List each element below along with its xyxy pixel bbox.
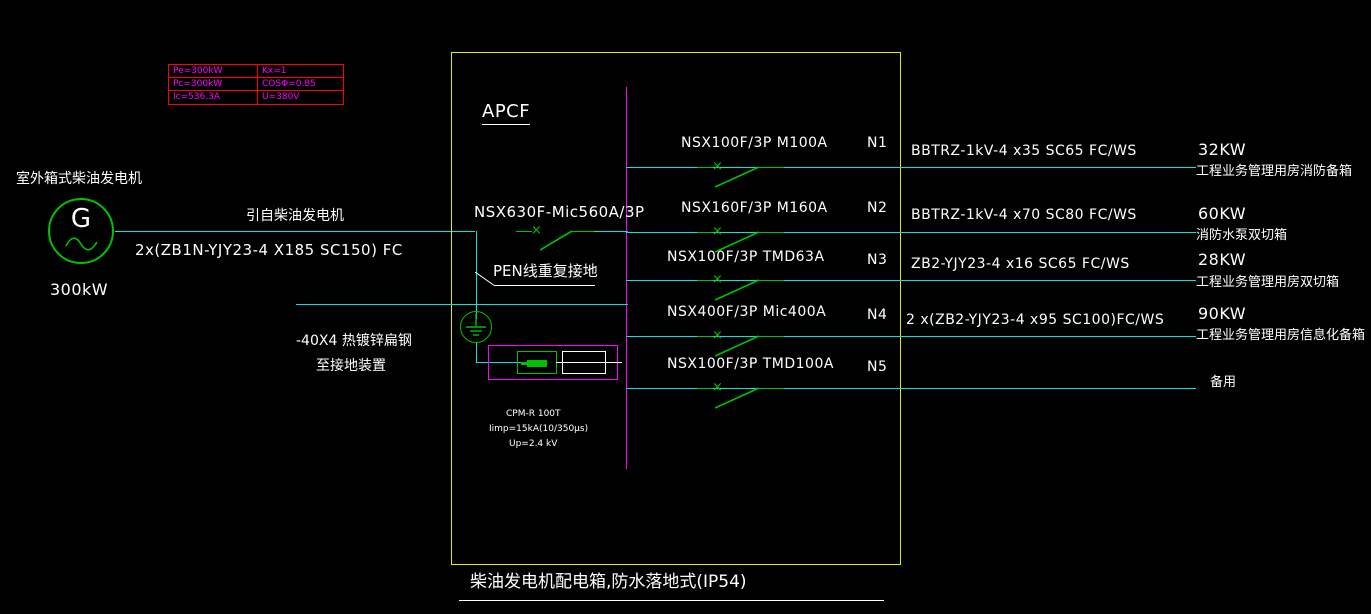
breaker-label-n3: NSX100F/3P TMD63A [667,250,825,264]
grounding-conductor-wire [296,304,628,305]
load-name-n4: 工程业务管理用房信息化备箱 [1196,329,1365,342]
load-power-n3: 28KW [1198,252,1246,268]
load-power-n1: 32KW [1198,142,1246,158]
cable-spec-n4: 2 x(ZB2-YJY23-4 x95 SC100)FC/WS [906,313,1164,327]
cell-u: U=380V [258,91,343,104]
breaker-contact-right-n2 [758,232,784,233]
generator-symbol: G [48,198,114,264]
breaker-label-n4: NSX400F/3P Mic400A [667,305,826,319]
earth-to-spd-wire [476,343,477,363]
drawing-caption: 柴油发电机配电箱,防水落地式(IP54) [470,574,747,591]
cell-ic: Ic=536.3A [169,91,258,104]
generator-rating: 300kW [50,282,108,298]
cable-spec-n2: BBTRZ-1kV-4 x70 SC80 FC/WS [911,208,1137,222]
load-power-n2: 60KW [1198,206,1246,222]
load-name-n1: 工程业务管理用房消防备箱 [1196,165,1352,178]
breaker-contact-left-n3 [697,280,713,281]
pen-note-underline [495,285,595,286]
breaker-arm-n3 [715,279,761,303]
cell-kx: Kx=1 [258,65,343,77]
spd-imp-label: Iimp=15kA(10/350μs) [489,425,588,434]
main-breaker-arm [540,230,574,252]
breaker-contact-right-n4 [758,336,784,337]
spd-internal-wire [556,362,622,363]
circuit-ref-n2: N2 [867,201,887,215]
breaker-contact-left-n1 [697,167,713,168]
breaker-arm-n1 [715,166,761,190]
table-row: Pe=300kW Kx=1 [169,65,343,78]
breaker-arm-n5 [715,387,761,411]
main-breaker-contact-left [516,231,532,232]
load-calculation-table: Pe=300kW Kx=1 Pc=300kW COSΦ=0.85 Ic=536.… [168,64,344,105]
circuit-ref-n1: N1 [867,136,887,150]
table-row: Pc=300kW COSΦ=0.85 [169,78,343,91]
breaker-contact-left-n4 [697,336,713,337]
cable-spec-n3: ZB2-YJY23-4 x16 SC65 FC/WS [911,257,1130,271]
breaker-contact-right-n5 [758,388,784,389]
ground-spec-line1: -40X4 热镀锌扁钢 [296,334,412,348]
table-row: Ic=536.3A U=380V [169,91,343,104]
main-breaker-label: NSX630F-Mic560A/3P [474,205,645,220]
pen-note-leader [475,272,497,288]
source-title: 室外箱式柴油发电机 [16,172,142,186]
breaker-contact-left-n5 [697,388,713,389]
cell-pe: Pe=300kW [169,65,258,77]
breaker-contact-left-n2 [697,232,713,233]
pen-note-label: PEN线重复接地 [493,264,598,279]
schematic-canvas: Pe=300kW Kx=1 Pc=300kW COSΦ=0.85 Ic=536.… [0,0,1371,614]
spd-varistor-lead [521,362,530,365]
earth-icon [461,312,491,342]
load-name-n2: 消防水泵双切箱 [1196,229,1287,242]
circuit-ref-n3: N3 [867,253,887,267]
cell-cos: COSΦ=0.85 [258,78,343,90]
feed-note: 引自柴油发电机 [246,209,344,223]
spd-up-label: Up=2.4 kV [509,440,557,449]
caption-underline [459,600,884,601]
spd-model-label: CPM-R 100T [506,410,561,419]
earth-symbol [460,311,492,343]
breaker-label-n5: NSX100F/3P TMD100A [667,357,834,371]
circuit-ref-n5: N5 [867,360,887,374]
load-name-n3: 工程业务管理用房双切箱 [1196,276,1339,289]
spd-varistor-box [517,351,557,374]
load-power-n4: 90KW [1198,306,1246,322]
breaker-label-n2: NSX160F/3P M160A [681,201,828,215]
load-name-n5: 备用 [1210,376,1236,389]
main-busbar [626,87,627,469]
spd-varistor-element [527,360,547,367]
panel-tag: APCF [482,103,530,125]
cable-spec-n1: BBTRZ-1kV-4 x35 SC65 FC/WS [911,144,1137,158]
generator-letter: G [50,206,112,232]
breaker-contact-right-n1 [758,167,784,168]
circuit-ref-n4: N4 [867,308,887,322]
feed-cable-spec: 2x(ZB1N-YJY23-4 X185 SC150) FC [135,243,403,258]
breaker-contact-right-n3 [758,280,784,281]
cell-pc: Pc=300kW [169,78,258,90]
sine-wave-icon [64,236,100,252]
breaker-label-n1: NSX100F/3P M100A [681,136,828,150]
main-breaker-to-bus-wire [594,231,628,232]
ground-spec-line2: 至接地装置 [316,359,386,373]
generator-feed-wire [115,231,475,232]
